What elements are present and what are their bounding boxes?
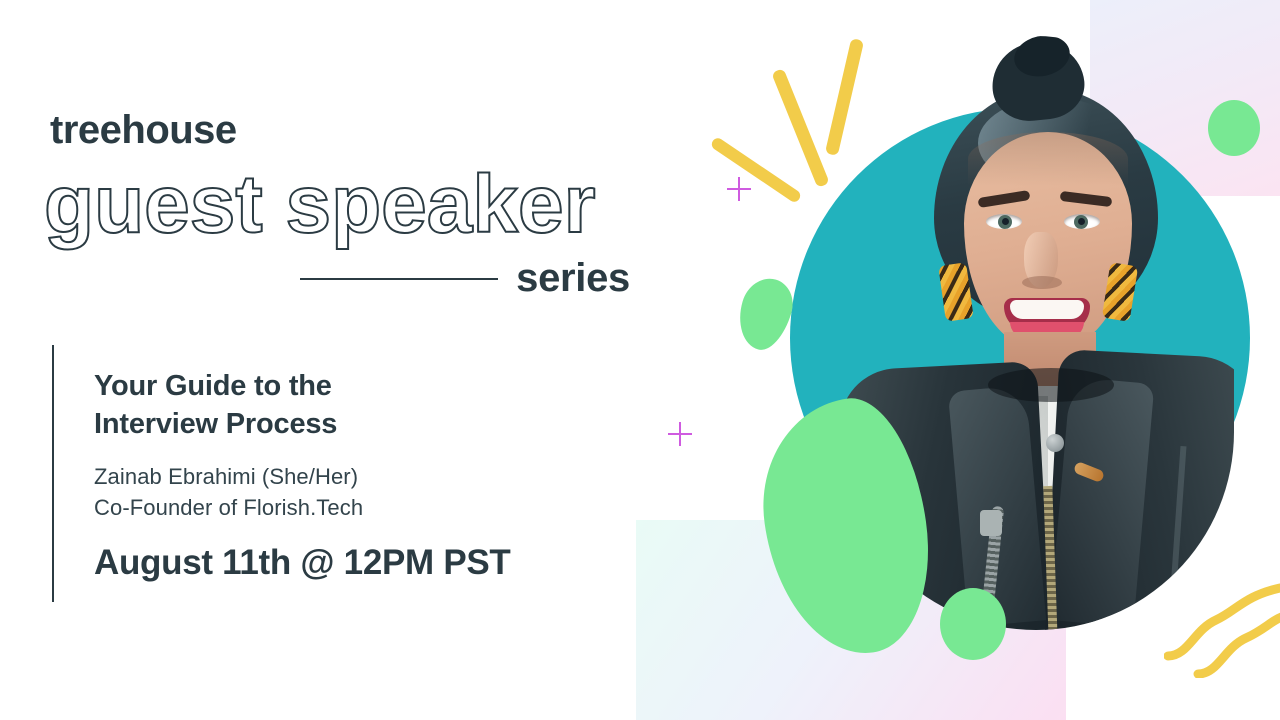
portrait-teeth <box>1010 300 1084 319</box>
green-blob-icon <box>940 588 1006 660</box>
promo-slide: treehouse guest speaker series Your Guid… <box>0 0 1280 720</box>
magenta-plus-icon <box>668 422 692 446</box>
portrait-forehead-shading <box>968 132 1128 186</box>
portrait-zipper-pull <box>980 510 1002 536</box>
portrait-nose-shadow <box>1022 276 1062 289</box>
event-info-block: Your Guide to the Interview Process Zain… <box>52 345 642 602</box>
portrait-jacket-collar-shadow <box>988 368 1114 402</box>
portrait-eye-right <box>1064 214 1100 229</box>
headline-outlined: guest speaker <box>44 158 596 252</box>
talk-title-line-2: Interview Process <box>94 408 337 440</box>
event-datetime: August 11th @ 12PM PST <box>94 543 642 583</box>
portrait-eye-left <box>986 214 1022 229</box>
portrait-jacket-button <box>1046 434 1064 452</box>
green-blob-icon <box>731 273 799 356</box>
yellow-burst-stroke-icon <box>825 38 864 156</box>
text-column: treehouse guest speaker series Your Guid… <box>0 0 660 720</box>
speaker-role: Co-Founder of Florish.Tech <box>94 492 642 523</box>
portrait-pupil <box>1078 218 1085 225</box>
portrait-pupil <box>1002 218 1009 225</box>
series-label: series <box>516 256 630 301</box>
speaker-name: Zainab Ebrahimi (She/Her) <box>94 461 642 492</box>
yellow-squiggles-icon <box>1164 582 1280 678</box>
magenta-plus-icon <box>727 177 751 201</box>
talk-title-line-1: Your Guide to the <box>94 370 332 402</box>
yellow-burst-stroke-icon <box>771 68 830 188</box>
talk-title: Your Guide to the Interview Process <box>94 367 642 444</box>
yellow-burst-stroke-icon <box>710 136 803 204</box>
green-blob-icon <box>1208 100 1260 156</box>
series-row: series <box>300 256 630 301</box>
brand-wordmark: treehouse <box>50 108 237 153</box>
series-divider-rule <box>300 278 498 280</box>
